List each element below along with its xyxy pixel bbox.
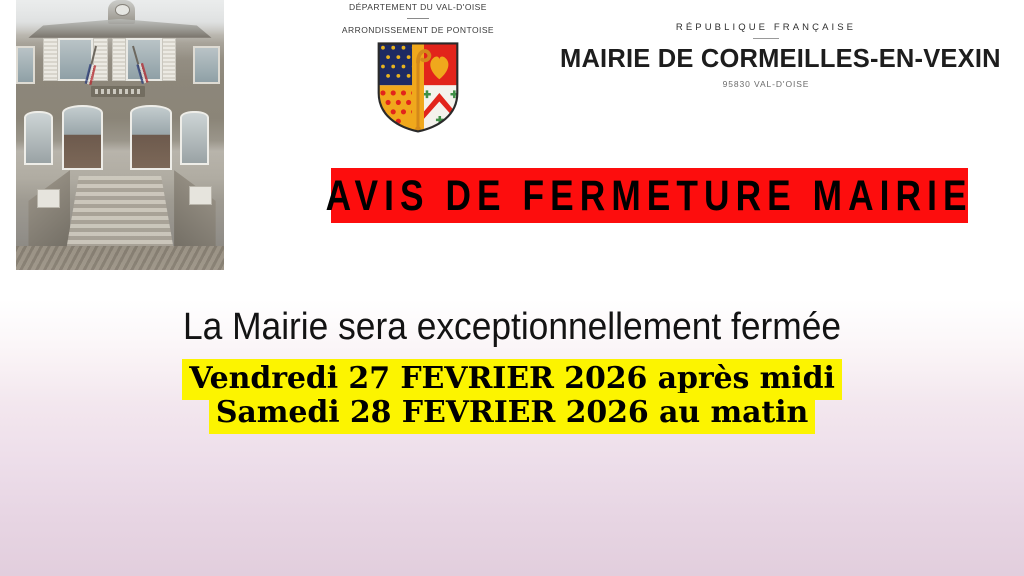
closure-intro-text: La Mairie sera exceptionnellement fermée: [36, 306, 988, 349]
closure-date-2: Samedi 28 FEVRIER 2026 au matin: [209, 393, 815, 434]
side-door: [24, 111, 53, 165]
window-shutter: [43, 38, 58, 81]
town-hall-photo: [16, 0, 224, 270]
side-door: [180, 111, 209, 165]
closure-dates: Vendredi 27 FEVRIER 2026 après midi Same…: [0, 362, 1024, 429]
closure-banner: AVIS DE FERMETURE MAIRIE: [331, 168, 968, 223]
stair-wall-right: [174, 170, 216, 251]
side-window: [16, 46, 35, 84]
town-hall-photo-image: [16, 0, 224, 270]
department-line: DÉPARTEMENT DU VAL-D'OISE: [338, 2, 498, 12]
header-divider: [407, 18, 429, 19]
planter: [189, 186, 212, 205]
closure-notice-poster: DÉPARTEMENT DU VAL-D'OISE ARRONDISSEMENT…: [0, 0, 1024, 576]
entrance-door: [62, 105, 104, 170]
republic-divider: [753, 38, 779, 39]
arrondissement-line: ARRONDISSEMENT DE PONTOISE: [338, 25, 498, 35]
window-shutter: [93, 38, 108, 81]
window-shutter: [162, 38, 177, 81]
planter: [37, 189, 60, 208]
closure-banner-text: AVIS DE FERMETURE MAIRIE: [326, 174, 973, 216]
mairie-title: MAIRIE DE CORMEILLES-EN-VEXIN: [560, 46, 972, 73]
postal-line: 95830 VAL-D'OISE: [560, 79, 972, 89]
coat-of-arms-icon: [375, 40, 461, 134]
department-header: DÉPARTEMENT DU VAL-D'OISE ARRONDISSEMENT…: [338, 2, 498, 134]
cobblestone-ground: [16, 246, 224, 270]
roof-pediment: [28, 19, 211, 38]
entrance-stairs: [66, 176, 174, 252]
closure-date-line: Samedi 28 FEVRIER 2026 au matin: [0, 396, 1024, 430]
stair-wall-left: [28, 170, 70, 251]
mairie-header: RÉPUBLIQUE FRANÇAISE MAIRIE DE CORMEILLE…: [560, 22, 972, 89]
republic-line: RÉPUBLIQUE FRANÇAISE: [560, 22, 972, 33]
entrance-door: [130, 105, 172, 170]
side-window: [193, 46, 220, 84]
window-shutter: [112, 38, 127, 81]
closure-date-line: Vendredi 27 FEVRIER 2026 après midi: [0, 362, 1024, 396]
building-sign: [91, 86, 145, 97]
